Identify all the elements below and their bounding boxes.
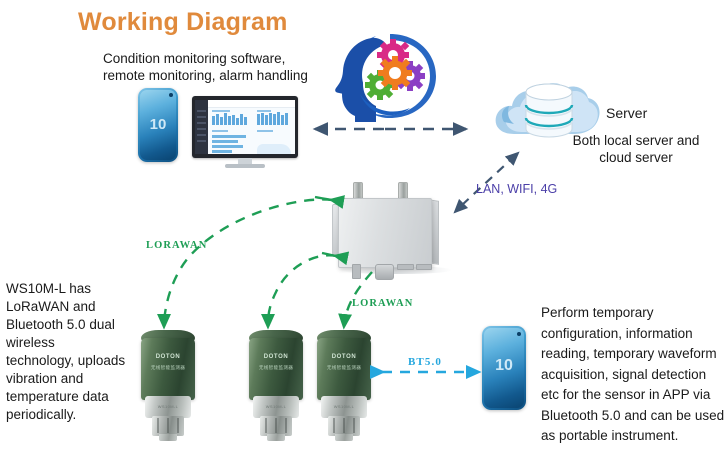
dashboard-nav-line — [197, 128, 206, 130]
sensor-nut-edge — [157, 418, 159, 433]
dashboard-panel-title — [212, 110, 230, 112]
sensor-nut-edge — [265, 418, 267, 433]
dashboard-bar — [216, 114, 219, 125]
smartphone-icon-left: 10 — [138, 88, 178, 162]
dashboard-nav-line — [197, 122, 206, 124]
dashboard-bar — [228, 116, 231, 125]
sensor-ring-label: WS10M-L — [253, 404, 299, 409]
dashboard-nav-line — [197, 134, 206, 136]
sensor-metal-ring: WS10M-L — [321, 396, 367, 418]
server-label: Server — [606, 105, 647, 121]
phone-screen-label-left: 10 — [138, 116, 178, 133]
working-diagram-canvas: Working Diagram Condition monitoring sof… — [0, 0, 728, 460]
sensor-model-label: 无线智能监测器 — [317, 365, 371, 371]
sensor-metal-ring: WS10M-L — [253, 396, 299, 418]
brain-gears-icon — [330, 28, 446, 124]
page-title: Working Diagram — [78, 8, 288, 37]
dashboard-nav-line — [197, 110, 206, 112]
dashboard-panel-title — [257, 110, 271, 112]
dashboard-bar — [261, 113, 264, 125]
vibration-sensor-icon-1: DOTON 无线智能监测器 WS10M-L — [137, 330, 199, 442]
phone-camera-icon-right — [517, 332, 521, 336]
dashboard-bar — [277, 112, 280, 125]
sensor-nut-edge — [167, 418, 169, 433]
dashboard-bar — [269, 113, 272, 125]
sensor-brand-label: DOTON — [249, 354, 303, 360]
sensor-nut-edge — [285, 418, 287, 433]
dashboard-panel-title — [212, 130, 228, 132]
dashboard-bar — [232, 115, 235, 125]
sensor-nut-edge — [275, 418, 277, 433]
caption-line-1: Condition monitoring software, — [103, 50, 319, 67]
phone-screen-label-right: 10 — [482, 357, 526, 375]
monitor-stand-base — [225, 164, 265, 168]
sensor-body: DOTON 无线智能监测器 — [141, 338, 195, 400]
label-network: LAN, WIFI, 4G — [476, 182, 557, 196]
sensor-brand-label: DOTON — [317, 354, 371, 360]
dashboard-nav-line — [197, 116, 206, 118]
dashboard-bar — [257, 114, 260, 125]
dashboard-nav-line — [197, 140, 206, 142]
dashboard-bar — [236, 118, 239, 125]
arrow-server-to-gateway — [455, 205, 462, 212]
dashboard-bar — [281, 115, 284, 125]
server-sublabel: Both local server and cloud server — [548, 132, 724, 166]
server-sublabel-line-2: cloud server — [548, 149, 724, 166]
caption-condition-monitoring: Condition monitoring software, remote mo… — [103, 50, 319, 84]
vibration-sensor-icon-3: DOTON 无线智能监测器 WS10M-L — [313, 330, 375, 442]
sensor-ring-label: WS10M-L — [321, 404, 367, 409]
dashboard-bar — [244, 117, 247, 125]
sensor-ring-label: WS10M-L — [145, 404, 191, 409]
dashboard-bar — [240, 114, 243, 125]
dashboard-hbar — [212, 145, 243, 148]
arrow-gateway-to-sensor-1 — [164, 199, 332, 326]
dashboard-hbar — [212, 150, 232, 153]
monitor-screen-dashboard — [195, 100, 295, 154]
sensor-nut-edge — [177, 418, 179, 433]
sensor-thread-stud — [267, 434, 285, 441]
sensor-body: DOTON 无线智能监测器 — [317, 338, 371, 400]
sensor-metal-ring: WS10M-L — [145, 396, 191, 418]
desktop-monitor-icon — [192, 96, 298, 168]
sensor-hex-nut — [152, 416, 184, 436]
dashboard-sidebar — [195, 100, 208, 154]
dashboard-topbar — [208, 100, 295, 108]
dashboard-panel-title — [257, 130, 273, 132]
dashboard-area-chart — [257, 144, 291, 154]
gateway-connector-4 — [416, 264, 432, 270]
sensor-brand-label: DOTON — [141, 354, 195, 360]
gateway-connector-1 — [352, 264, 361, 279]
sensor-nut-edge — [353, 418, 355, 433]
smartphone-icon-right: 10 — [482, 326, 526, 410]
phone-camera-icon-left — [169, 93, 173, 97]
label-lorawan-2: LORAWAN — [352, 298, 413, 309]
dashboard-hbar — [212, 140, 238, 143]
arrow-sensor-1-to-gateway — [315, 197, 332, 200]
sensor-body: DOTON 无线智能监测器 — [249, 338, 303, 400]
dashboard-bar — [285, 113, 288, 125]
sensor-model-label: 无线智能监测器 — [249, 365, 303, 371]
description-app: Perform temporary configuration, informa… — [541, 303, 727, 447]
dashboard-bar — [265, 115, 268, 125]
sensor-thread-stud — [335, 434, 353, 441]
dashboard-bar — [273, 114, 276, 125]
label-bluetooth: BT5.0 — [408, 356, 442, 368]
vibration-sensor-icon-2: DOTON 无线智能监测器 WS10M-L — [245, 330, 307, 442]
dashboard-bar — [212, 116, 215, 125]
gateway-connector-2 — [375, 264, 394, 280]
sensor-nut-edge — [343, 418, 345, 433]
sensor-hex-nut — [260, 416, 292, 436]
arrow-gateway-to-server — [462, 153, 518, 205]
gateway-body — [338, 198, 432, 268]
sensor-thread-stud — [159, 434, 177, 441]
label-lorawan-1: LORAWAN — [146, 240, 207, 251]
server-sublabel-line-1: Both local server and — [548, 132, 724, 149]
gateway-connector-3 — [397, 264, 414, 270]
caption-line-2: remote monitoring, alarm handling — [103, 67, 319, 84]
sensor-model-label: 无线智能监测器 — [141, 365, 195, 371]
description-sensor: WS10M-L has LoRaWAN and Bluetooth 5.0 du… — [6, 280, 126, 424]
sensor-nut-edge — [333, 418, 335, 433]
dashboard-bar — [224, 113, 227, 125]
dashboard-bar — [220, 117, 223, 125]
dashboard-hbar — [212, 135, 246, 138]
lorawan-gateway-icon — [332, 180, 444, 280]
sensor-hex-nut — [328, 416, 360, 436]
arrow-gateway-to-sensor-2 — [268, 255, 336, 326]
